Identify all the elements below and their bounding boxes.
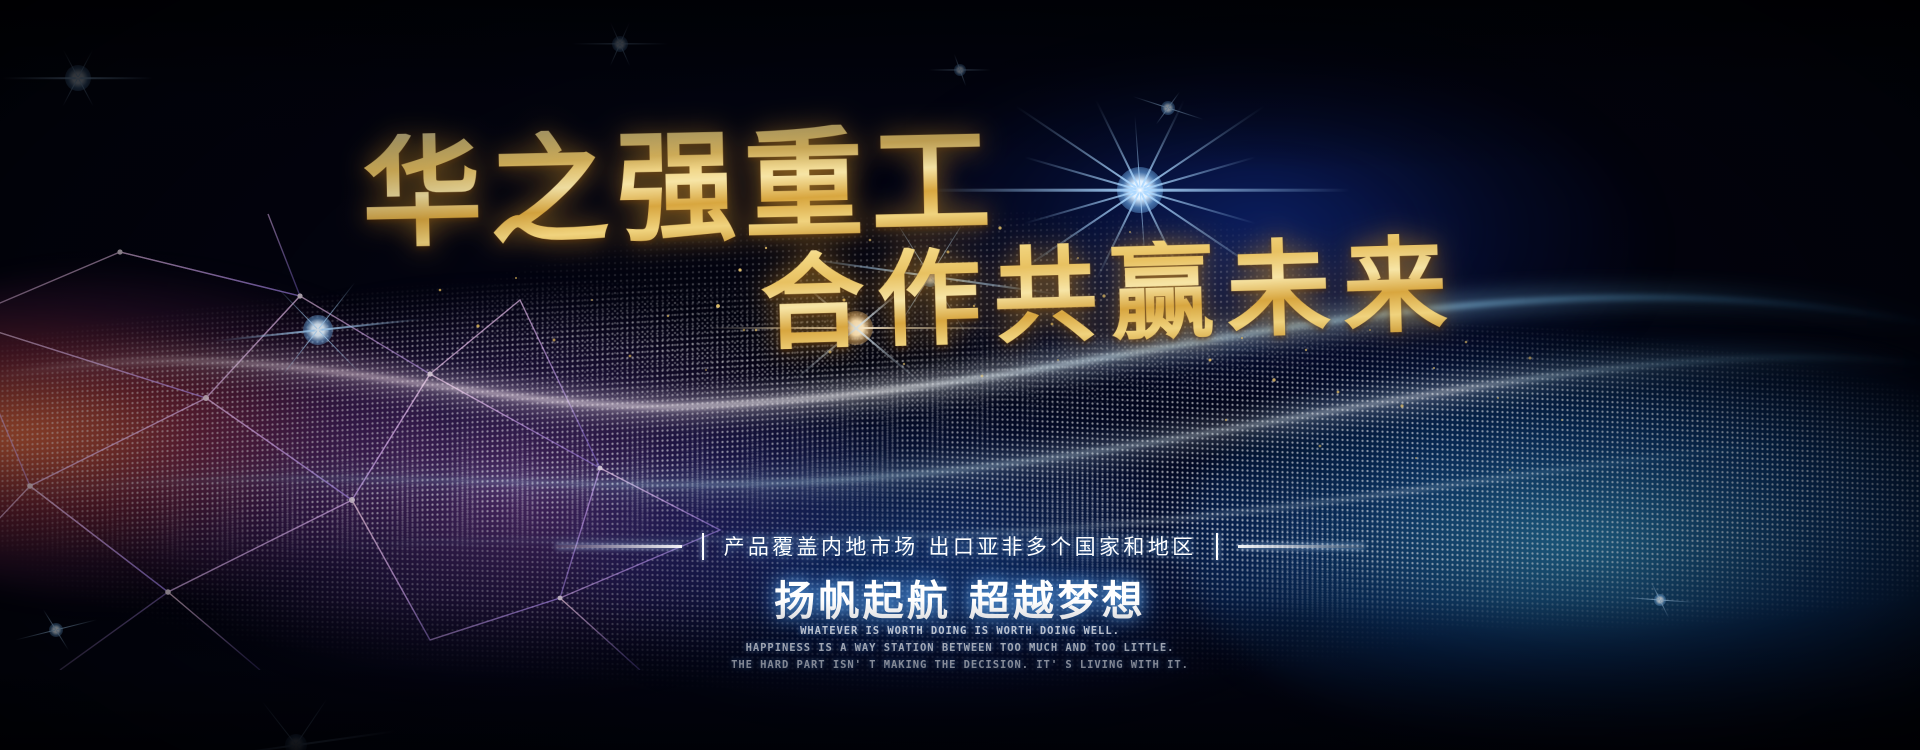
slogan-text: 扬帆起航 超越梦想 (0, 567, 1920, 627)
banner-content: 华之强重工 合作共赢未来 产品覆盖内地市场 出口亚非多个国家和地区 扬帆起航 超… (0, 0, 1920, 750)
subtitle-tick-left (702, 533, 704, 560)
english-line-1: WHATEVER IS WORTH DOING IS WORTH DOING W… (0, 623, 1920, 640)
subtitle-rule-left (556, 545, 682, 548)
subtitle-text: 产品覆盖内地市场 出口亚非多个国家和地区 (724, 531, 1197, 561)
english-quote-block: WHATEVER IS WORTH DOING IS WORTH DOING W… (0, 623, 1920, 674)
main-title: 华之强重工 合作共赢未来 (0, 128, 1920, 346)
subtitle-rule-right (1238, 545, 1364, 548)
subtitle-row: 产品覆盖内地市场 出口亚非多个国家和地区 (0, 531, 1920, 561)
english-line-2: HAPPINESS IS A WAY STATION BETWEEN TOO M… (0, 640, 1920, 657)
promotional-banner: 华之强重工 合作共赢未来 产品覆盖内地市场 出口亚非多个国家和地区 扬帆起航 超… (0, 0, 1920, 750)
english-line-3: THE HARD PART ISN' T MAKING THE DECISION… (0, 657, 1920, 674)
subtitle-tick-right (1216, 533, 1218, 560)
